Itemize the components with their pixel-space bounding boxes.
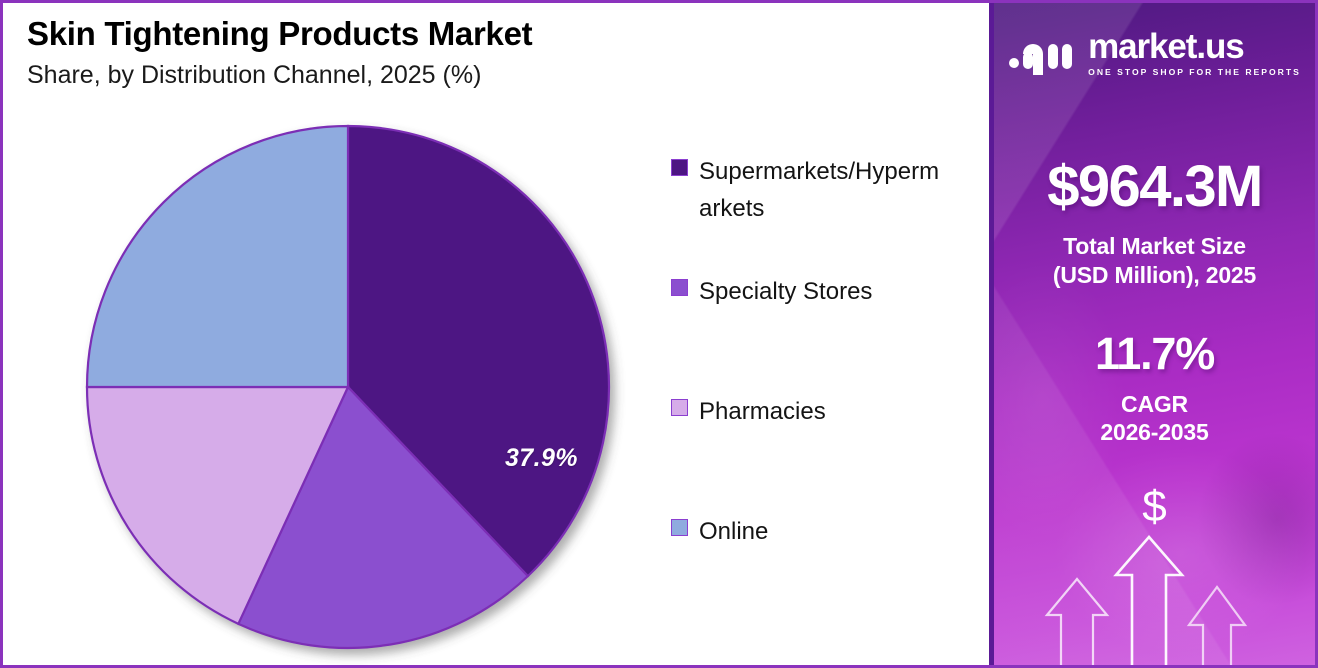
side-stats-panel: market.us ONE STOP SHOP FOR THE REPORTS … (989, 3, 1315, 665)
cagr-caption-line2: 2026-2035 (994, 418, 1315, 447)
page-subtitle: Share, by Distribution Channel, 2025 (%) (27, 61, 727, 90)
market-size-caption-line1: Total Market Size (994, 232, 1315, 261)
legend-item-pharmacies[interactable]: Pharmacies (671, 393, 971, 513)
legend-item-label: Online (699, 513, 768, 550)
pie-chart-svg (87, 126, 609, 648)
legend-swatch-icon (671, 279, 688, 296)
legend-swatch-icon (671, 519, 688, 536)
market-size-caption: Total Market Size (USD Million), 2025 (994, 232, 1315, 290)
logo-text: market.us ONE STOP SHOP FOR THE REPORTS (1088, 29, 1301, 77)
legend-item-label: Pharmacies (699, 393, 826, 430)
page-title: Skin Tightening Products Market (27, 15, 727, 53)
pie-slice-label-supermarkets: 37.9% (505, 444, 578, 473)
market-size-value: $964.3M (994, 153, 1315, 220)
legend-swatch-icon (671, 399, 688, 416)
chart-area: Skin Tightening Products Market Share, b… (3, 3, 989, 665)
pie-slice-online[interactable] (87, 126, 348, 387)
legend-item-label: Supermarkets/Hypermarkets (699, 153, 951, 228)
legend-item-specialty-stores[interactable]: Specialty Stores (671, 273, 971, 393)
legend-swatch-icon (671, 159, 688, 176)
infographic-page: Skin Tightening Products Market Share, b… (0, 0, 1318, 668)
stats-block: $964.3M Total Market Size (USD Million),… (994, 153, 1315, 447)
cagr-caption-line1: CAGR (994, 390, 1315, 419)
title-block: Skin Tightening Products Market Share, b… (27, 15, 727, 90)
pie-chart: 37.9% (87, 126, 609, 648)
legend-item-supermarkets-hypermarkets[interactable]: Supermarkets/Hypermarkets (671, 153, 971, 273)
cagr-value: 11.7% (994, 328, 1315, 380)
legend-item-online[interactable]: Online (671, 513, 971, 633)
legend-item-label: Specialty Stores (699, 273, 872, 310)
market-us-logo-icon (1008, 30, 1076, 76)
logo-wordmark: market.us (1088, 29, 1301, 64)
brand-logo[interactable]: market.us ONE STOP SHOP FOR THE REPORTS (994, 29, 1315, 77)
legend: Supermarkets/Hypermarkets Specialty Stor… (671, 153, 971, 633)
market-size-caption-line2: (USD Million), 2025 (994, 261, 1315, 290)
growth-arrows-graphic: $ (994, 475, 1315, 665)
dollar-sign-icon: $ (994, 485, 1315, 529)
up-arrows-icon (994, 475, 1315, 665)
logo-tagline: ONE STOP SHOP FOR THE REPORTS (1088, 68, 1301, 77)
cagr-caption: CAGR 2026-2035 (994, 390, 1315, 448)
